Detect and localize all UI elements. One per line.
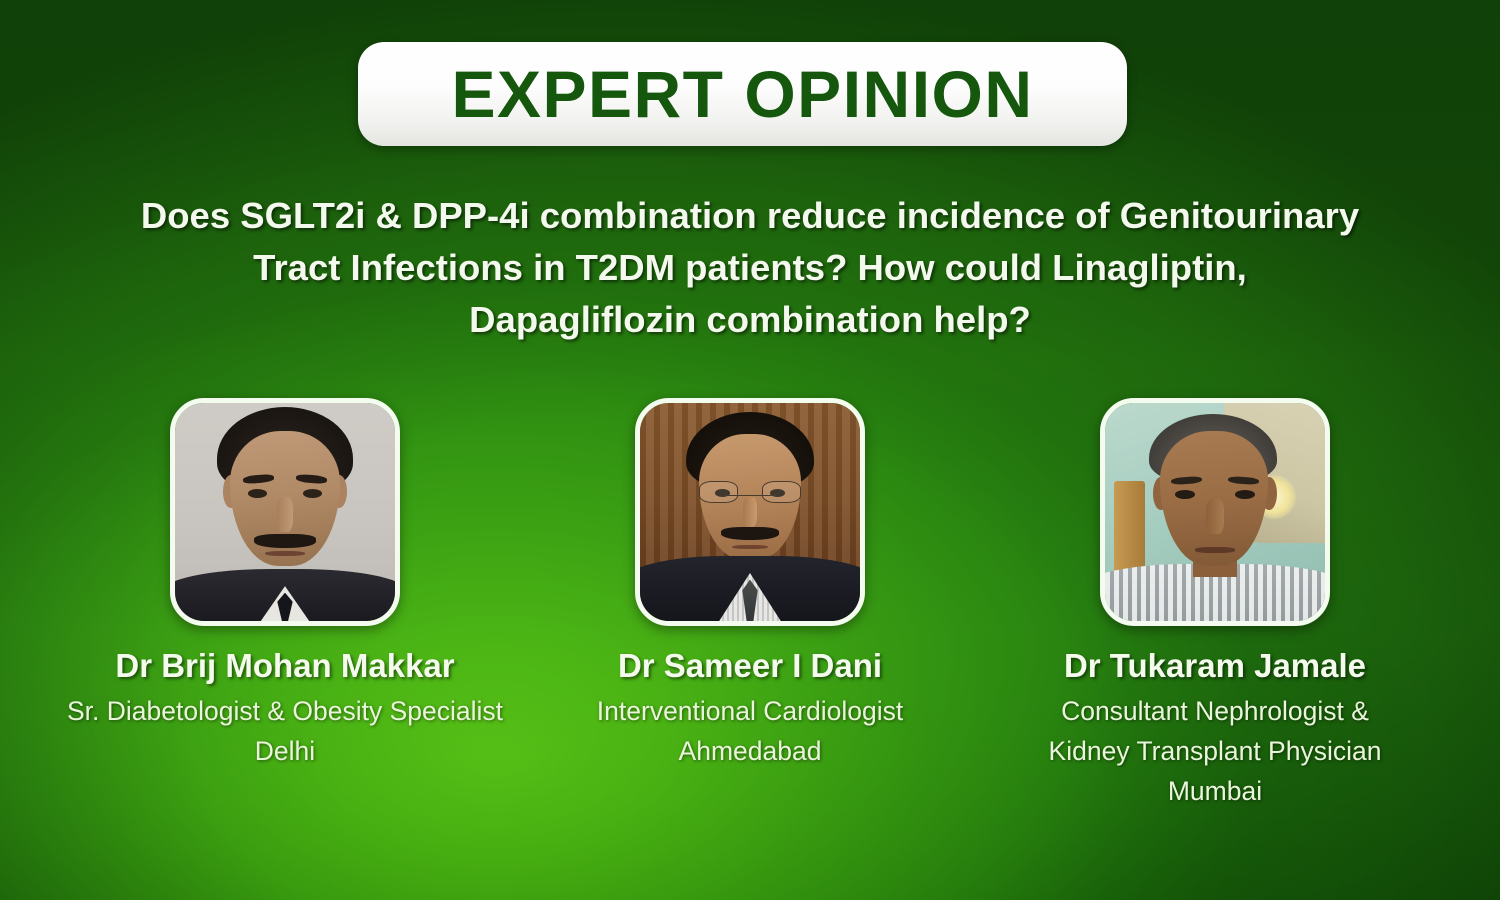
portrait-image-2	[640, 403, 860, 621]
expert-role-3: Consultant Nephrologist & Kidney Transpl…	[1049, 691, 1382, 771]
expert-city-2: Ahmedabad	[679, 731, 822, 771]
portrait-image-3	[1105, 403, 1325, 621]
expert-city-1: Delhi	[255, 731, 315, 771]
expert-photo-frame-3	[1100, 398, 1330, 626]
portrait-image-1	[175, 403, 395, 621]
question-line-1: Does SGLT2i & DPP-4i combination reduce …	[26, 190, 1474, 242]
expert-name-3: Dr Tukaram Jamale	[1064, 648, 1366, 685]
question-text: Does SGLT2i & DPP-4i combination reduce …	[26, 190, 1474, 346]
expert-role-2-line-1: Interventional Cardiologist	[597, 691, 903, 731]
experts-row: Dr Brij Mohan Makkar Sr. Diabetologist &…	[0, 398, 1500, 811]
expert-name-1: Dr Brij Mohan Makkar	[115, 648, 454, 685]
expert-role-1-line-1: Sr. Diabetologist & Obesity Specialist	[67, 691, 503, 731]
expert-city-3: Mumbai	[1168, 771, 1262, 811]
title-banner: EXPERT OPINION	[358, 42, 1127, 146]
expert-name-2: Dr Sameer I Dani	[618, 648, 882, 685]
question-line-3: Dapagliflozin combination help?	[26, 294, 1474, 346]
expert-card-3: Dr Tukaram Jamale Consultant Nephrologis…	[988, 398, 1443, 811]
expert-card-1: Dr Brij Mohan Makkar Sr. Diabetologist &…	[58, 398, 513, 771]
expert-card-2: Dr Sameer I Dani Interventional Cardiolo…	[523, 398, 978, 771]
title-banner-container: EXPERT OPINION	[358, 42, 1127, 146]
expert-photo-frame-1	[170, 398, 400, 626]
expert-role-1: Sr. Diabetologist & Obesity Specialist	[67, 691, 503, 731]
expert-role-3-line-2: Kidney Transplant Physician	[1049, 731, 1382, 771]
banner-title-text: EXPERT OPINION	[451, 61, 1033, 127]
question-line-2: Tract Infections in T2DM patients? How c…	[26, 242, 1474, 294]
expert-opinion-slide: EXPERT OPINION Does SGLT2i & DPP-4i comb…	[0, 0, 1500, 900]
expert-photo-frame-2	[635, 398, 865, 626]
expert-role-2: Interventional Cardiologist	[597, 691, 903, 731]
expert-role-3-line-1: Consultant Nephrologist &	[1049, 691, 1382, 731]
